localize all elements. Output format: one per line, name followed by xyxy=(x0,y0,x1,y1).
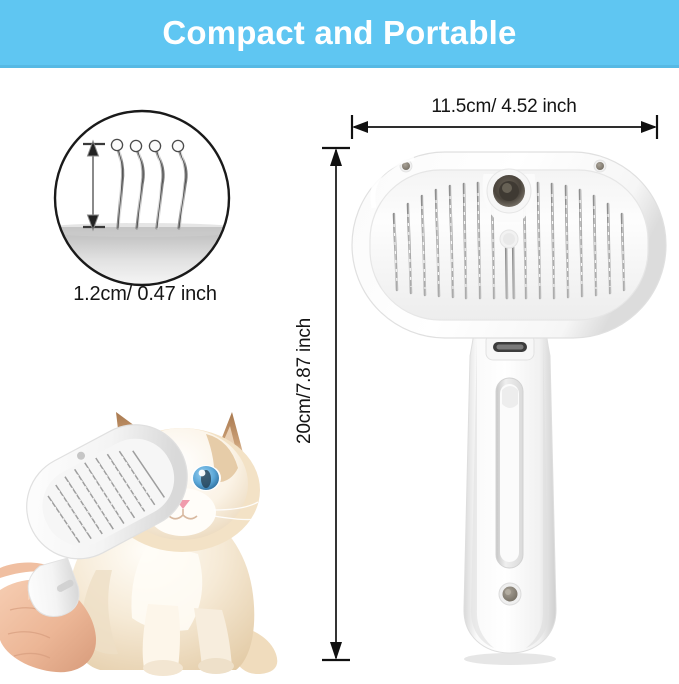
handle-screw xyxy=(499,583,521,605)
header-banner: Compact and Portable xyxy=(0,0,679,68)
cat-eye-right xyxy=(191,465,221,491)
pin-height-arrow xyxy=(83,141,105,230)
cat-front-leg-left xyxy=(143,604,180,668)
brush-base-pad xyxy=(52,223,232,288)
brush-head xyxy=(352,152,666,338)
page-title: Compact and Portable xyxy=(0,0,679,65)
head-screw-right xyxy=(594,160,606,172)
product-shadow xyxy=(464,653,556,665)
suction-port xyxy=(487,169,531,213)
handle-slider-slot xyxy=(496,378,523,568)
product-image-brush: VC-00 xyxy=(344,138,674,666)
pin-length-measurement-label: 1.2cm/ 0.47 inch xyxy=(30,283,260,306)
brush-pins xyxy=(118,148,186,228)
brush-pin-tips xyxy=(111,139,183,151)
center-button xyxy=(500,230,518,248)
lifestyle-photo-cat-grooming xyxy=(0,372,300,679)
brush-pin-outlines xyxy=(118,148,186,228)
pin-length-closeup-diagram xyxy=(52,108,232,288)
